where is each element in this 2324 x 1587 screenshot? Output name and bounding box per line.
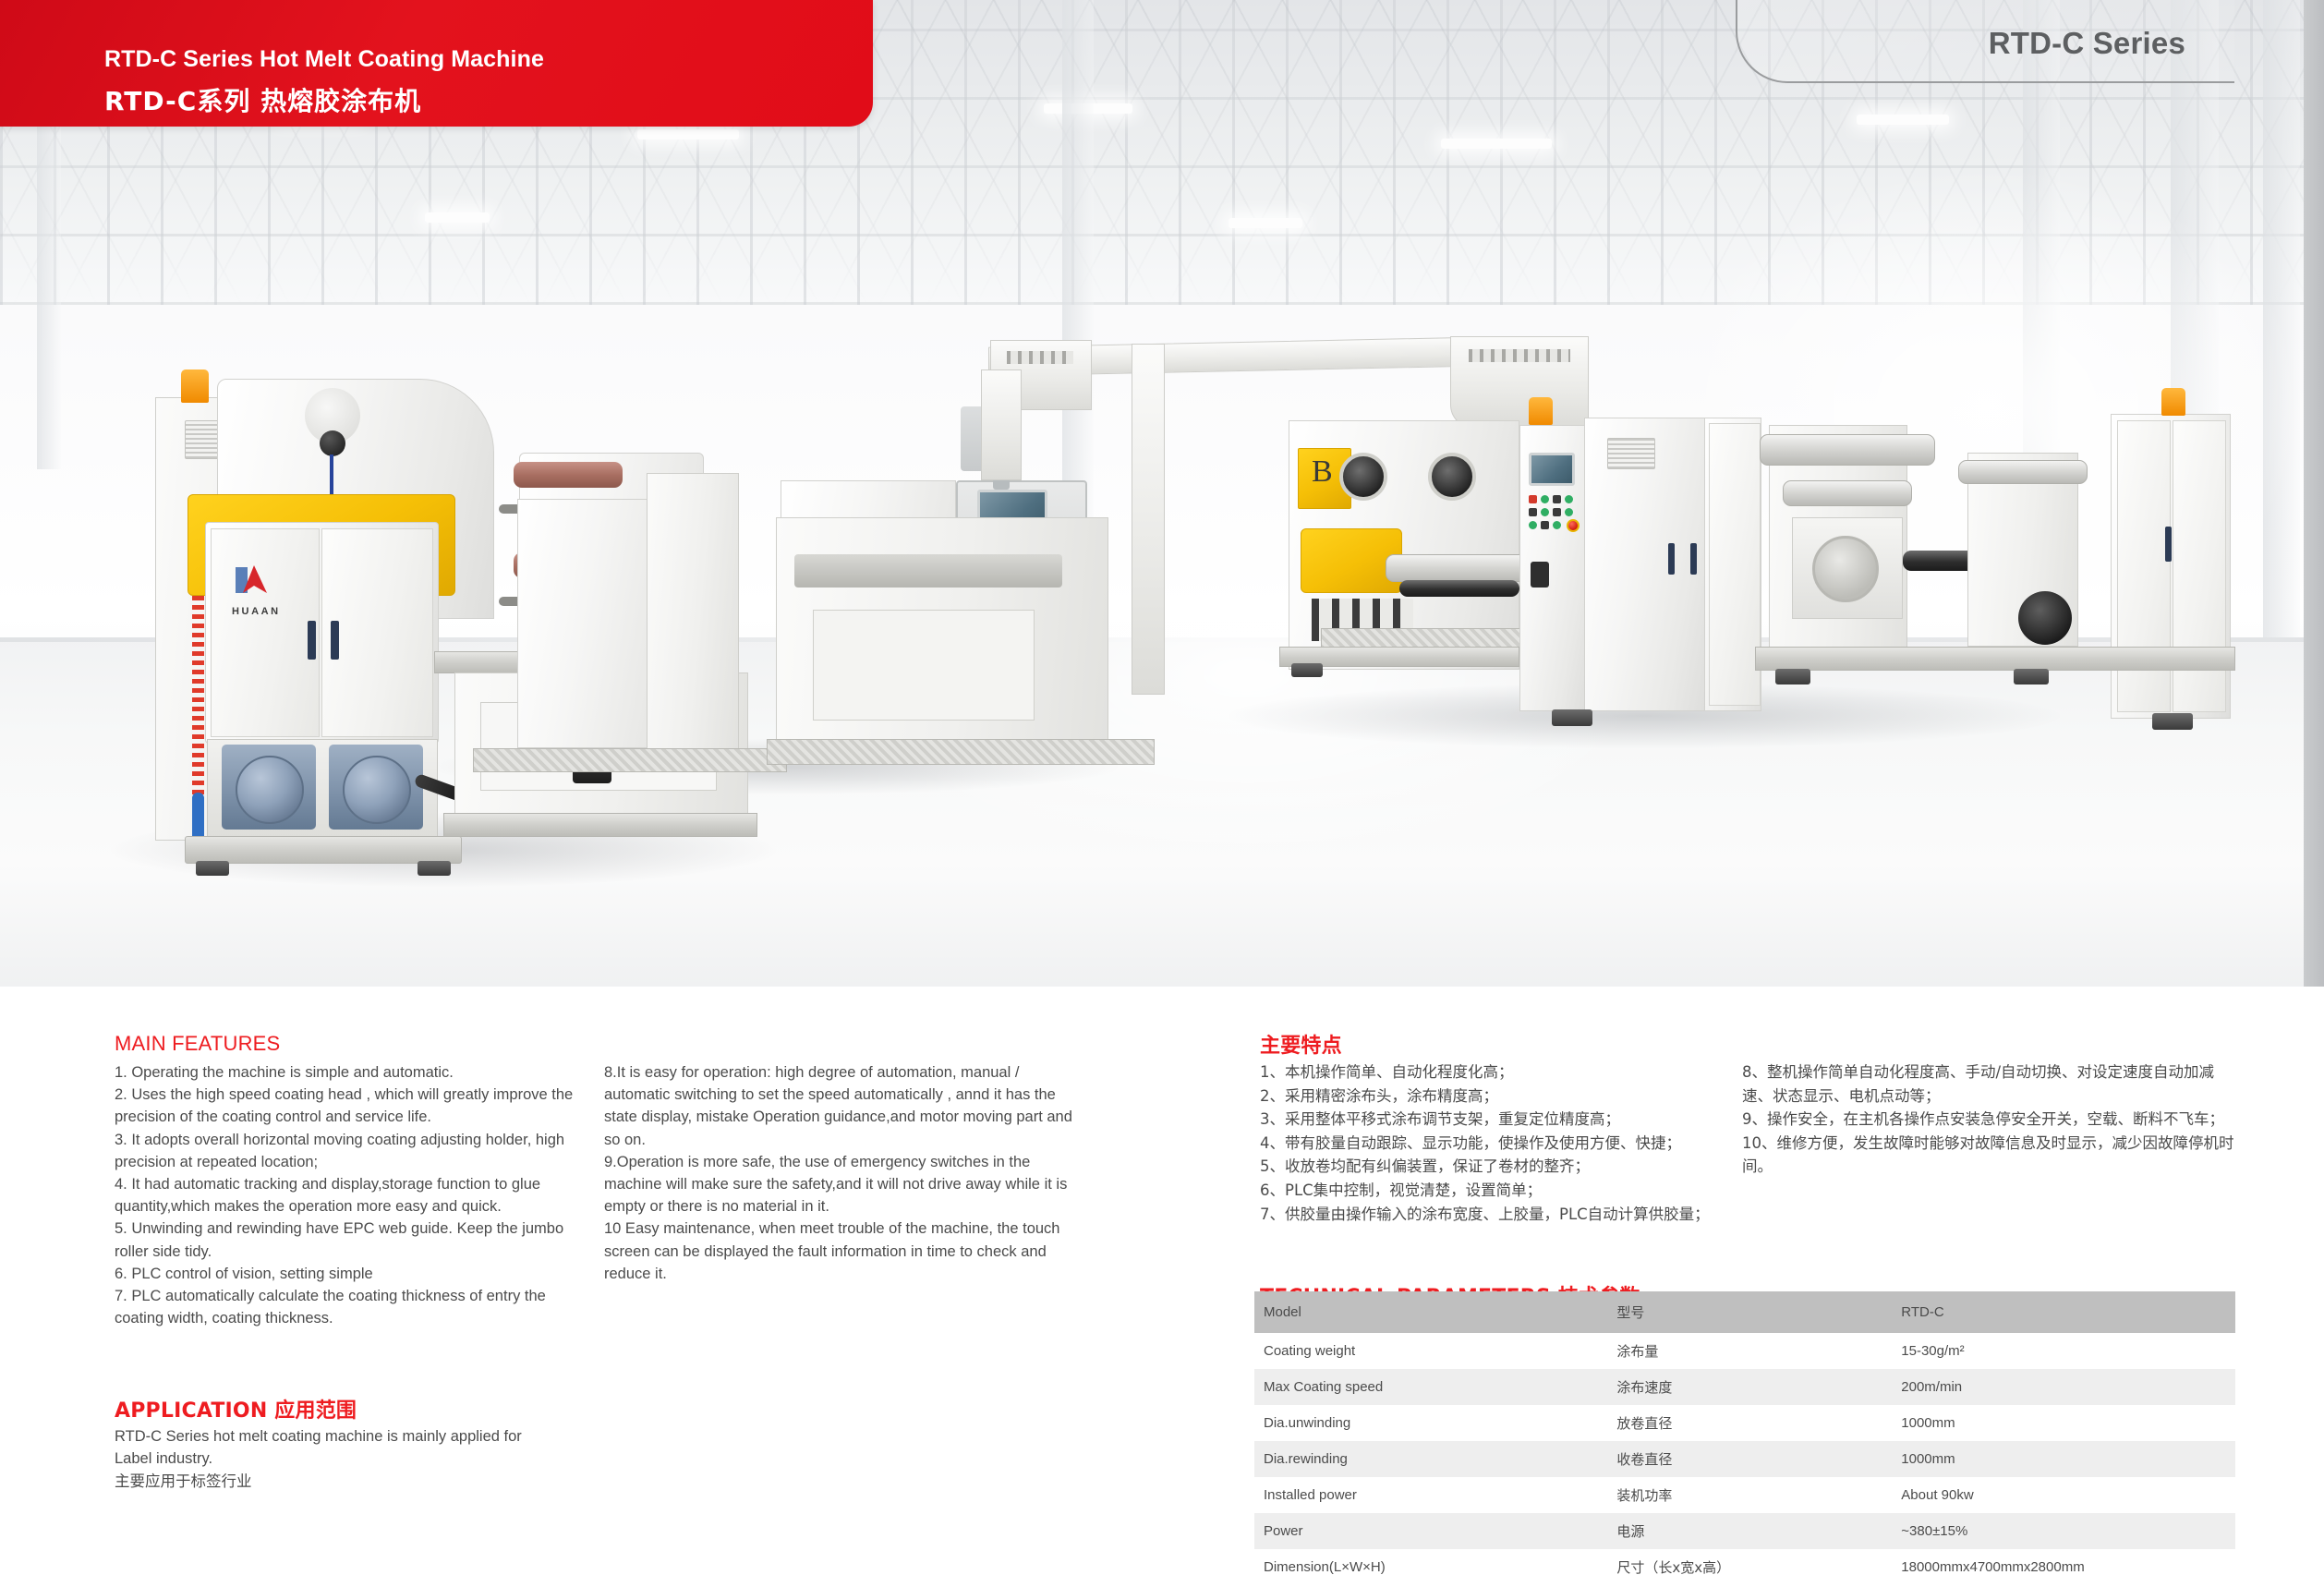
function-button[interactable] [1553, 508, 1561, 516]
socket-box [1531, 562, 1549, 588]
function-button[interactable] [1565, 495, 1573, 503]
door-handle [1668, 543, 1675, 575]
motor-fan-right [343, 756, 411, 824]
drive-pulley [2018, 591, 2072, 645]
feature-item-cn: 6、PLC集中控制，视觉清楚，设置简单； [1260, 1179, 1740, 1203]
warning-beacon [181, 369, 209, 403]
feature-item: 1. Operating the machine is simple and a… [115, 1061, 576, 1084]
function-button[interactable] [1565, 508, 1573, 516]
huaan-logo-icon [234, 562, 272, 605]
application-body: RTD-C Series hot melt coating machine is… [115, 1425, 586, 1494]
guide-roller-right [1783, 480, 1912, 506]
main-features-left-column: 1. Operating the machine is simple and a… [115, 1061, 576, 1329]
cell-label-cn: 型号 [1607, 1291, 1892, 1333]
shaft-chuck-right [1428, 453, 1476, 501]
door-handle [1690, 543, 1697, 575]
feature-item-cn: 2、采用精密涂布头，涂布精度高； [1260, 1084, 1740, 1108]
warning-beacon [1529, 397, 1553, 425]
features-cn-left-column: 1、本机操作简单、自动化程度化高； 2、采用精密涂布头，涂布精度高； 3、采用整… [1260, 1060, 1740, 1226]
coiled-air-hose [192, 591, 204, 804]
table-row: Max Coating speed 涂布速度 200m/min [1254, 1369, 2235, 1405]
feature-item: 3. It adopts overall horizontal moving c… [115, 1129, 576, 1173]
emergency-stop-button[interactable] [1567, 519, 1580, 532]
cell-label-cn: 装机功率 [1607, 1477, 1892, 1513]
brochure-page: HUAAN [0, 0, 2324, 1587]
vent-grille [1607, 438, 1655, 469]
leveling-foot [418, 861, 451, 876]
feature-item-cn: 10、维修方便，发生故障时能够对故障信息及时显示，减少因故障停机时间。 [1742, 1132, 2241, 1179]
motor-fan-left [236, 756, 304, 824]
leveling-foot [2152, 713, 2193, 730]
features-cn-heading: 主要特点 [1260, 1029, 1342, 1059]
feature-item: 8.It is easy for operation: high degree … [604, 1061, 1084, 1151]
function-button[interactable] [1553, 521, 1561, 529]
application-heading: APPLICATION 应用范围 [115, 1394, 357, 1423]
cabinet-door-left [211, 528, 320, 737]
feature-item: 5. Unwinding and rewinding have EPC web … [115, 1218, 576, 1262]
table-row: Installed power 装机功率 About 90kw [1254, 1477, 2235, 1513]
feature-item-cn: 8、整机操作简单自动化程度高、手动/自动切换、对设定速度自动加减速、状态显示、电… [1742, 1060, 2241, 1108]
gantry-perf-strip [1469, 349, 1570, 362]
leveling-foot [196, 861, 229, 876]
tension-roller [1958, 460, 2088, 484]
page-edge-strip [2304, 0, 2324, 987]
function-button[interactable] [1541, 521, 1549, 529]
cell-value: RTD-C [1892, 1291, 2235, 1333]
application-line-en-1: RTD-C Series hot melt coating machine is… [115, 1425, 586, 1448]
cell-label-en: Power [1254, 1513, 1607, 1549]
cell-label-cn: 电源 [1607, 1513, 1892, 1549]
table-row-header: Model 型号 RTD-C [1254, 1291, 2235, 1333]
coating-machine-illustration: HUAAN [0, 0, 2324, 987]
banner-title-en: RTD-C Series Hot Melt Coating Machine [104, 46, 544, 73]
cell-value: 1000mm [1892, 1405, 2235, 1441]
machine-base-left [185, 836, 462, 864]
product-photo: HUAAN [0, 0, 2324, 987]
door-handle [308, 621, 316, 660]
table-row: Dia.rewinding 收卷直径 1000mm [1254, 1441, 2235, 1477]
top-roller-right [1760, 434, 1935, 466]
door-handle [331, 621, 339, 660]
banner-title-cn: RTD-C系列 热熔胶涂布机 [104, 81, 421, 118]
cell-label-en: Dia.rewinding [1254, 1441, 1607, 1477]
application-line-cn: 主要应用于标签行业 [115, 1470, 586, 1494]
cell-label-en: Dimension(L×W×H) [1254, 1549, 1607, 1585]
feature-item: 2. Uses the high speed coating head , wh… [115, 1084, 576, 1128]
feature-item-cn: 3、采用整体平移式涂布调节支架，重复定位精度高； [1260, 1108, 1740, 1132]
shaft-chuck-left [1339, 453, 1387, 501]
cell-value: About 90kw [1892, 1477, 2235, 1513]
rubber-roller-upper [514, 462, 623, 488]
start-button[interactable] [1541, 495, 1549, 503]
function-button[interactable] [1553, 495, 1561, 503]
cell-label-cn: 尺寸（长x宽x高） [1607, 1549, 1892, 1585]
feature-item: 4. It had automatic tracking and display… [115, 1173, 576, 1218]
tech-params-table-wrap: Model 型号 RTD-C Coating weight 涂布量 15-30g… [1254, 1291, 2235, 1585]
jumbo-roller-b [1386, 554, 1533, 582]
cross-beam [794, 554, 1062, 588]
function-button[interactable] [1529, 508, 1537, 516]
cell-label-cn: 涂布速度 [1607, 1369, 1892, 1405]
adjust-knob [320, 430, 345, 456]
warning-beacon [2161, 388, 2185, 416]
feature-item: 9.Operation is more safe, the use of eme… [604, 1151, 1084, 1218]
cell-label-cn: 涂布量 [1607, 1333, 1892, 1369]
leveling-foot [1775, 669, 1810, 684]
leveling-foot [2014, 669, 2049, 684]
door-handle [2165, 527, 2172, 562]
feature-item: 7. PLC automatically calculate the coati… [115, 1285, 576, 1329]
function-button[interactable] [1541, 508, 1549, 516]
cell-label-cn: 放卷直径 [1607, 1405, 1892, 1441]
nip-roller-b [1399, 580, 1519, 597]
leveling-foot [1291, 663, 1323, 677]
unit-face-plate [813, 610, 1035, 721]
coater-side-plate [647, 473, 739, 750]
main-features-heading: MAIN FEATURES [115, 1032, 280, 1056]
table-row: Power 电源 ~380±15% [1254, 1513, 2235, 1549]
function-button[interactable] [1529, 521, 1537, 529]
gantry-perf-strip [1007, 351, 1073, 364]
cell-value: ~380±15% [1892, 1513, 2235, 1549]
rewind-chuck [1812, 536, 1879, 602]
cell-label-cn: 收卷直径 [1607, 1441, 1892, 1477]
tech-params-table: Model 型号 RTD-C Coating weight 涂布量 15-30g… [1254, 1291, 2235, 1585]
cell-value: 200m/min [1892, 1369, 2235, 1405]
table-row: Dia.unwinding 放卷直径 1000mm [1254, 1405, 2235, 1441]
leveling-foot [1552, 709, 1592, 726]
hmi-touchscreen-right[interactable] [1529, 453, 1575, 486]
application-line-en-2: Label industry. [115, 1448, 586, 1470]
gantry-post [1132, 344, 1165, 695]
cell-label-en: Dia.unwinding [1254, 1405, 1607, 1441]
feature-item: 6. PLC control of vision, setting simple [115, 1263, 576, 1285]
cell-label-en: Installed power [1254, 1477, 1607, 1513]
main-features-right-column: 8.It is easy for operation: high degree … [604, 1061, 1084, 1285]
cell-label-en: Coating weight [1254, 1333, 1607, 1369]
features-cn-right-column: 8、整机操作简单自动化程度高、手动/自动切换、对设定速度自动加减速、状态显示、电… [1742, 1060, 2241, 1179]
title-banner: RTD-C Series Hot Melt Coating Machine RT… [0, 0, 873, 127]
machine-base-mid [443, 813, 757, 837]
walk-platform [767, 739, 1155, 765]
cell-label-en: Model [1254, 1291, 1607, 1333]
series-label: RTD-C Series [1989, 26, 2185, 61]
walk-platform [473, 748, 787, 772]
table-row: Coating weight 涂布量 15-30g/m² [1254, 1333, 2235, 1369]
cell-value: 15-30g/m² [1892, 1333, 2235, 1369]
unit-letter-b: B [1312, 454, 1333, 490]
feature-item-cn: 9、操作安全，在主机各操作点安装急停安全开关，空载、断料不飞车； [1742, 1108, 2241, 1132]
feature-item-cn: 5、收放卷均配有纠偏装置，保证了卷材的整齐； [1260, 1155, 1740, 1179]
cell-value: 18000mmx4700mmx2800mm [1892, 1549, 2235, 1585]
cabinet-door [1709, 423, 1761, 706]
huaan-logo-text: HUAAN [232, 606, 281, 617]
feature-item-cn: 1、本机操作简单、自动化程度化高； [1260, 1060, 1740, 1084]
cell-label-en: Max Coating speed [1254, 1369, 1607, 1405]
stop-button[interactable] [1529, 495, 1537, 503]
cell-value: 1000mm [1892, 1441, 2235, 1477]
feature-item-cn: 7、供胶量由操作输入的涂布宽度、上胶量，PLC自动计算供胶量； [1260, 1203, 1740, 1227]
feature-item-cn: 4、带有胶量自动跟踪、显示功能，使操作及使用方便、快捷； [1260, 1132, 1740, 1156]
gantry-bracket [981, 369, 1022, 480]
table-row: Dimension(L×W×H) 尺寸（长x宽x高） 18000mmx4700m… [1254, 1549, 2235, 1585]
machine-base-right [1755, 647, 2235, 671]
feature-item: 10 Easy maintenance, when meet trouble o… [604, 1218, 1084, 1285]
